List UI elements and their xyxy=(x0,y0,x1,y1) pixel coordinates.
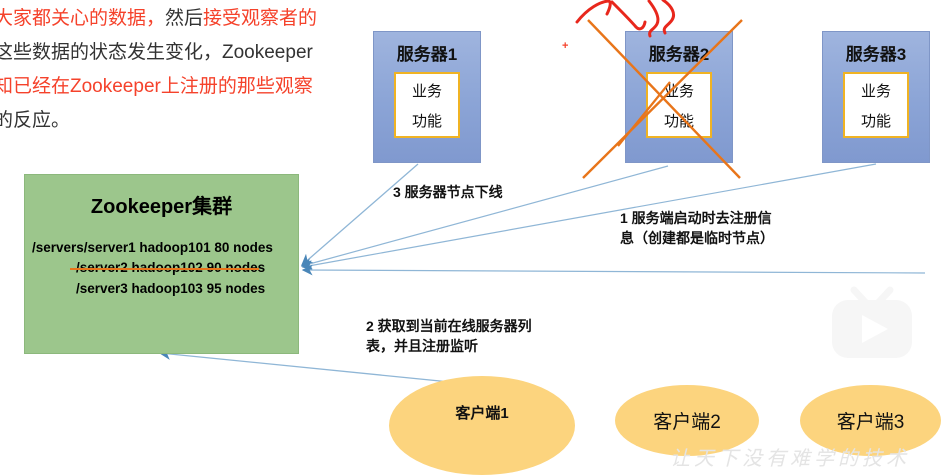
annotation-step-3: 3 服务器节点下线 xyxy=(393,182,503,202)
server-2-biz-line-2: 功能 xyxy=(648,107,710,137)
annotation-step-2-line-1: 2 获取到当前在线服务器列 xyxy=(366,316,532,336)
server-3-business-module: 业务 功能 xyxy=(843,72,909,138)
annotation-step-1-line-1: 1 服务端启动时去注册信 xyxy=(620,208,774,228)
client-2-label: 客户端2 xyxy=(615,407,759,434)
zookeeper-cluster-title: Zookeeper集群 xyxy=(25,190,298,219)
red-scribble-stroke-4 xyxy=(663,0,674,33)
line-server2-to-zk xyxy=(302,166,668,266)
server-box-2[interactable]: 服务器2 业务 功能 xyxy=(625,31,733,163)
server-box-3[interactable]: 服务器3 业务 功能 xyxy=(822,31,930,163)
server-1-biz-line-2: 功能 xyxy=(396,107,458,137)
zk-entry-server3: /server3 hadoop103 95 nodes xyxy=(76,281,265,296)
server-1-business-module: 业务 功能 xyxy=(394,72,460,138)
server-2-biz-line-1: 业务 xyxy=(648,77,710,107)
intro-line-1-part-c: 接受观察者的 xyxy=(203,8,317,29)
annotation-step-1-line-2: 息（创建都是临时节点） xyxy=(620,228,774,248)
intro-line-1-part-b: 然后 xyxy=(165,8,203,29)
client-ellipse-1[interactable]: 客户端1 xyxy=(389,376,575,475)
zk-entry-server2-strikethrough xyxy=(70,268,259,270)
intro-line-1-part-a: 大家都关心的数据， xyxy=(0,8,165,29)
red-scribble-stroke-1 xyxy=(577,1,610,22)
annotation-step-2-line-2: 表，并且注册监听 xyxy=(366,336,532,356)
line-register-horizontal xyxy=(303,270,925,273)
red-scribble-stroke-2 xyxy=(612,2,645,29)
server-1-title: 服务器1 xyxy=(374,40,480,65)
line-client1-to-zk xyxy=(160,353,470,384)
intro-line-2: 这些数据的状态发生变化，Zookeeper xyxy=(0,36,340,70)
diagram-canvas: 大家都关心的数据，然后接受观察者的 这些数据的状态发生变化，Zookeeper … xyxy=(0,0,941,475)
server-2-title: 服务器2 xyxy=(626,40,732,65)
intro-paragraph: 大家都关心的数据，然后接受观察者的 这些数据的状态发生变化，Zookeeper … xyxy=(0,2,340,138)
server-3-title: 服务器3 xyxy=(823,40,929,65)
intro-line-4: 的反应。 xyxy=(0,104,340,138)
server-1-biz-line-1: 业务 xyxy=(396,77,458,107)
plus-mark: + xyxy=(562,40,568,52)
server-box-1[interactable]: 服务器1 业务 功能 xyxy=(373,31,481,163)
intro-line-1: 大家都关心的数据，然后接受观察者的 xyxy=(0,2,340,36)
intro-line-3: 知已经在Zookeeper上注册的那些观察 xyxy=(0,70,340,104)
server-3-biz-line-1: 业务 xyxy=(845,77,907,107)
line-server1-to-zk xyxy=(302,164,418,265)
line-server3-to-zk xyxy=(303,164,876,267)
bilibili-tv-play-icon xyxy=(826,286,918,364)
server-2-business-module: 业务 功能 xyxy=(646,72,712,138)
server-3-biz-line-2: 功能 xyxy=(845,107,907,137)
client-3-label: 客户端3 xyxy=(800,407,941,434)
watermark-text: 让天下没有难学的技术 xyxy=(670,442,910,471)
annotation-step-1: 1 服务端启动时去注册信 息（创建都是临时节点） xyxy=(620,208,774,248)
client-1-label: 客户端1 xyxy=(389,402,575,423)
annotation-step-2: 2 获取到当前在线服务器列 表，并且注册监听 xyxy=(366,316,532,356)
zk-entry-server1: /servers/server1 hadoop101 80 nodes xyxy=(32,240,273,255)
